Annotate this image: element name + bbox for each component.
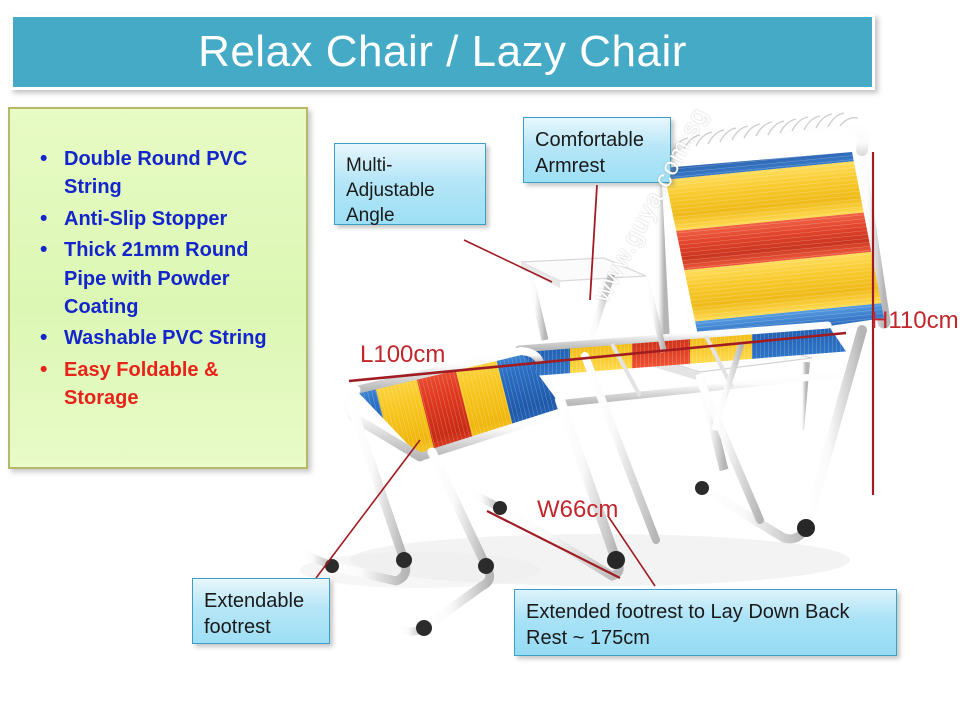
feature-item: Double Round PVC String — [38, 145, 292, 202]
callout-multi-adjustable-angle: Multi-Adjustable Angle — [334, 143, 486, 225]
features-list: Double Round PVC String Anti-Slip Stoppe… — [10, 109, 306, 413]
title-banner: Relax Chair / Lazy Chair — [10, 14, 875, 90]
feature-item: Anti-Slip Stopper — [38, 205, 292, 233]
page-title: Relax Chair / Lazy Chair — [198, 30, 687, 74]
feature-item: Easy Foldable & Storage — [38, 356, 292, 413]
callout-comfortable-armrest: Comfortable Armrest — [523, 117, 671, 183]
feature-item: Thick 21mm Round Pipe with Powder Coatin… — [38, 236, 292, 321]
slide-canvas: Relax Chair / Lazy Chair Double Round PV… — [0, 0, 960, 720]
dimension-length-label: L100cm — [360, 341, 445, 369]
dimension-height-label: H110cm — [871, 307, 959, 335]
features-box: Double Round PVC String Anti-Slip Stoppe… — [8, 107, 308, 469]
feature-item: Washable PVC String — [38, 324, 292, 352]
callout-extendable-footrest: Extendable footrest — [192, 578, 330, 644]
dimension-width-label: W66cm — [537, 496, 618, 524]
angle-leader-line — [464, 240, 552, 282]
footrest-leader-line — [316, 440, 420, 578]
extended-leader-line — [608, 516, 655, 586]
callout-extended-footrest-length: Extended footrest to Lay Down Back Rest … — [514, 589, 897, 656]
